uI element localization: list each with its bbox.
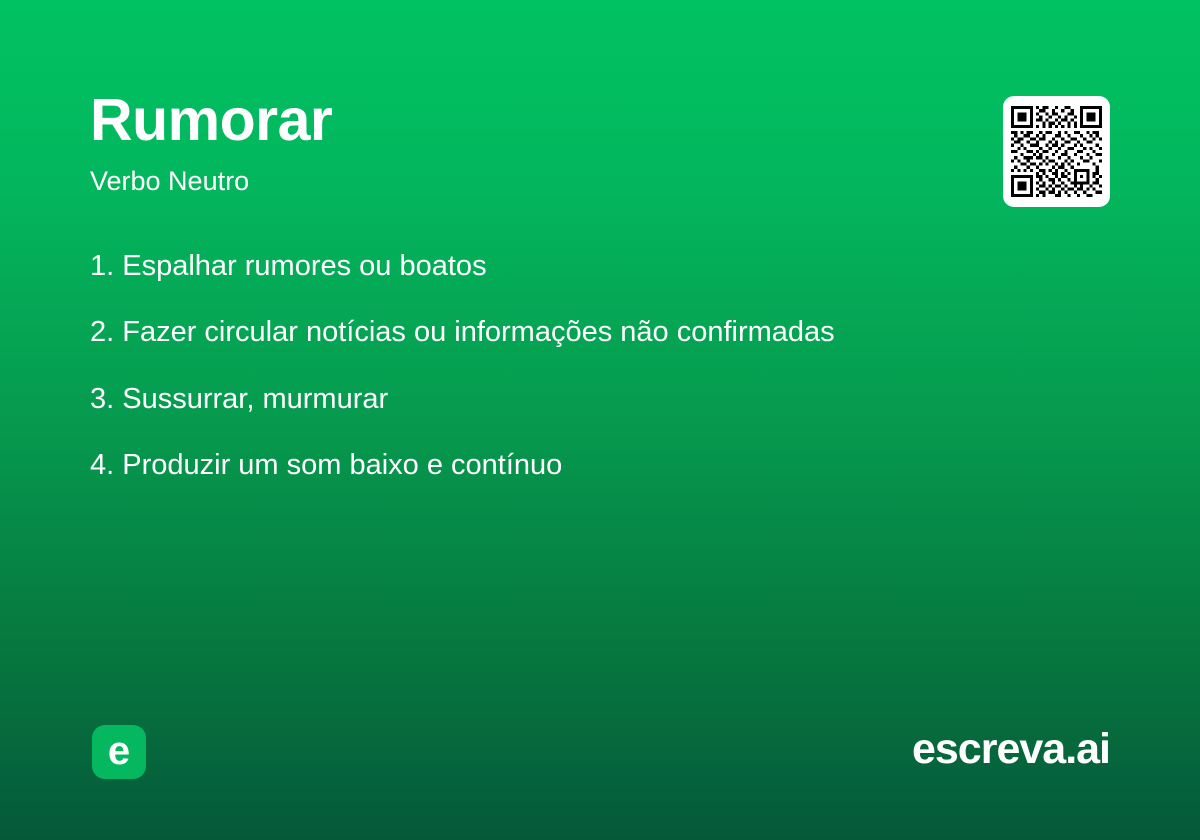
definition-item: 4. Produzir um som baixo e contínuo: [90, 447, 1050, 483]
definition-text: Espalhar rumores ou boatos: [122, 250, 486, 282]
definition-item: 2. Fazer circular notícias ou informaçõe…: [90, 314, 1050, 350]
qr-code-icon: [1011, 104, 1102, 199]
definition-list: 1. Espalhar rumores ou boatos 2. Fazer c…: [90, 248, 1050, 483]
definition-index: 2.: [90, 316, 114, 348]
definition-index: 4.: [90, 449, 114, 481]
definition-index: 3.: [90, 383, 114, 415]
definition-item: 1. Espalhar rumores ou boatos: [90, 248, 1050, 284]
page-title: Rumorar: [90, 90, 332, 152]
word-class-label: Verbo Neutro: [90, 166, 249, 197]
definition-text: Sussurrar, murmurar: [122, 383, 388, 415]
qr-code-card[interactable]: [1003, 96, 1110, 207]
logo-letter: e: [92, 725, 146, 779]
definition-text: Produzir um som baixo e contínuo: [122, 449, 562, 481]
definition-index: 1.: [90, 250, 114, 282]
dictionary-card: Rumorar Verbo Neutro: [0, 0, 1200, 840]
definition-item: 3. Sussurrar, murmurar: [90, 381, 1050, 417]
definition-text: Fazer circular notícias ou informações n…: [122, 316, 834, 348]
brand-wordmark[interactable]: escreva.ai: [912, 727, 1110, 772]
escreva-logo-icon[interactable]: e: [92, 725, 146, 779]
